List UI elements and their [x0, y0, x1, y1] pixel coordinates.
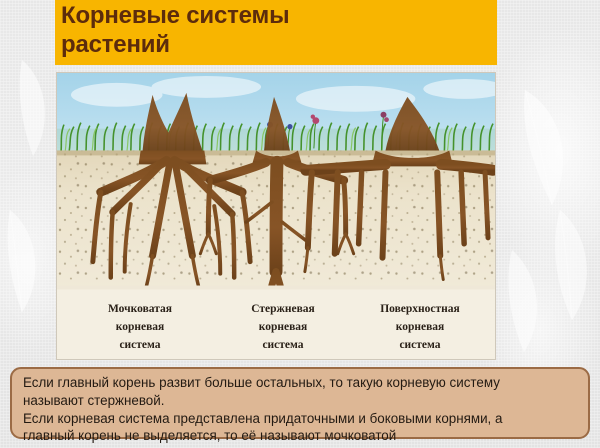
slide-canvas: Корневые системы растений [0, 0, 600, 448]
root-label-surface: Поверхностная корневая система [345, 301, 495, 354]
title-banner: Корневые системы растений [55, 0, 497, 65]
root-systems-illustration: Мочковатая корневая система Стержневая к… [56, 72, 496, 360]
caption-box: Если главный корень развит больше осталь… [10, 367, 590, 439]
caption-text: Если главный корень развит больше осталь… [23, 374, 578, 445]
root-label-fibrous: Мочковатая корневая система [65, 301, 215, 354]
page-title: Корневые системы растений [61, 1, 497, 60]
root-label-taproot: Стержневая корневая система [208, 301, 358, 354]
